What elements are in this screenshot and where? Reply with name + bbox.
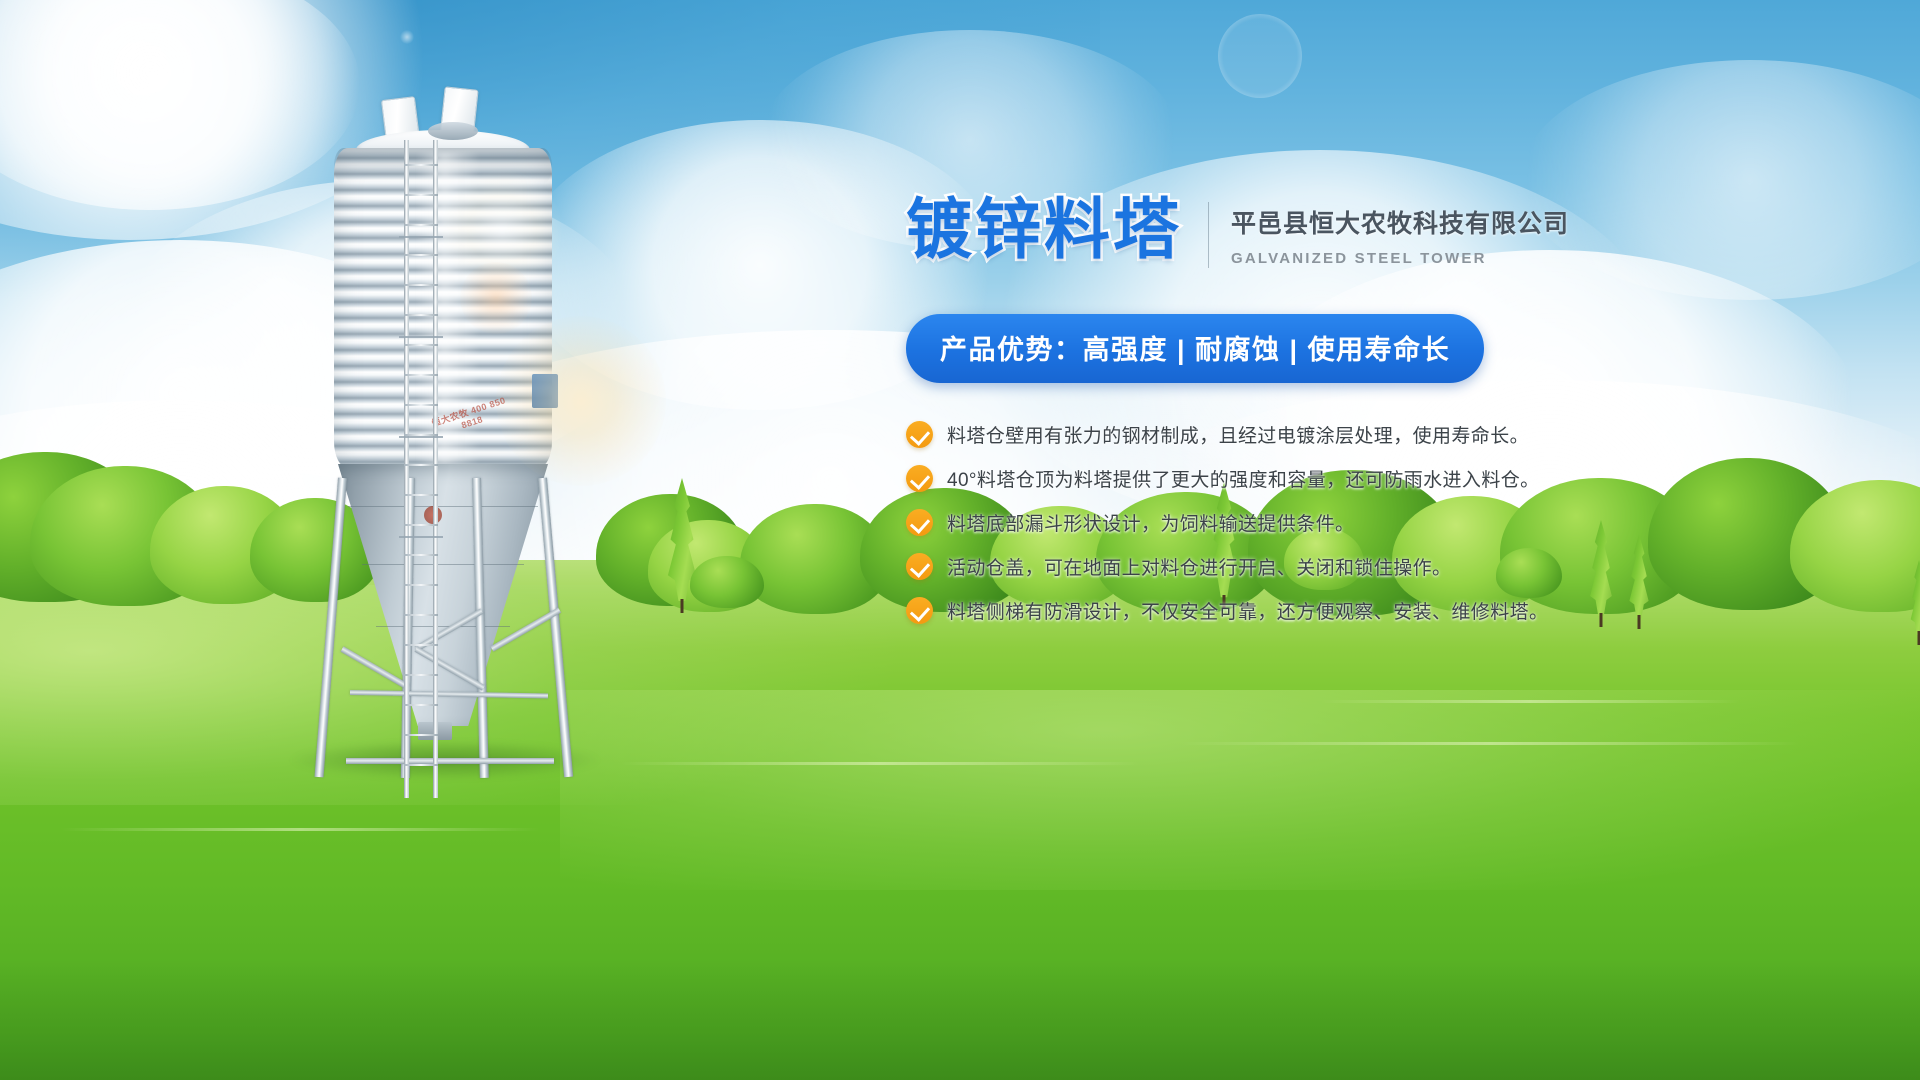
feature-text: 料塔底部漏斗形状设计，为饲料输送提供条件。 bbox=[947, 509, 1354, 536]
ladder-rung bbox=[404, 524, 438, 526]
sun-flare bbox=[460, 262, 532, 334]
list-item: 料塔侧梯有防滑设计，不仅安全可靠，还方便观察、安装、维修料塔。 bbox=[906, 597, 1546, 624]
banner-header-row: 镀锌料塔 平邑县恒大农牧科技有限公司 GALVANIZED STEEL TOWE… bbox=[906, 196, 1546, 268]
galvanized-silo-image: 恒大农牧 400 850 8818 bbox=[296, 86, 596, 766]
ladder-rung bbox=[404, 674, 438, 676]
feature-text: 40°料塔仓顶为料塔提供了更大的强度和容量，还可防雨水进入料仓。 bbox=[947, 465, 1540, 492]
company-name-english: GALVANIZED STEEL TOWER bbox=[1231, 250, 1569, 267]
list-item: 料塔底部漏斗形状设计，为饲料输送提供条件。 bbox=[906, 509, 1546, 536]
ladder-rung bbox=[404, 404, 438, 406]
ladder-rung bbox=[404, 224, 438, 226]
hero-banner-scene: 恒大农牧 400 850 8818 bbox=[0, 0, 1920, 1080]
conifer-tree bbox=[1906, 560, 1920, 638]
ladder-cage-hoop bbox=[399, 436, 443, 438]
check-circle-icon bbox=[906, 421, 933, 448]
silo-base-beam bbox=[346, 758, 554, 764]
silo-hopper-cone bbox=[338, 464, 548, 726]
ladder-rung bbox=[404, 284, 438, 286]
ladder-cage-hoop bbox=[399, 336, 443, 338]
ladder-rung bbox=[404, 164, 438, 166]
cone-seam bbox=[348, 506, 538, 507]
ladder-cage-hoop bbox=[399, 536, 443, 538]
banner-text-panel: 镀锌料塔 平邑县恒大农牧科技有限公司 GALVANIZED STEEL TOWE… bbox=[906, 196, 1546, 641]
ladder-rung bbox=[404, 704, 438, 706]
silo-side-ladder bbox=[404, 140, 438, 798]
advantage-pill: 产品优势：高强度 | 耐腐蚀 | 使用寿命长 bbox=[906, 314, 1484, 383]
cone-seam bbox=[376, 626, 510, 627]
list-item: 40°料塔仓顶为料塔提供了更大的强度和容量，还可防雨水进入料仓。 bbox=[906, 465, 1546, 492]
ladder-rung bbox=[404, 644, 438, 646]
conifer-tree bbox=[1624, 534, 1654, 622]
check-circle-icon bbox=[906, 553, 933, 580]
ladder-rung bbox=[404, 584, 438, 586]
silo-leg bbox=[314, 478, 347, 778]
ladder-cage-hoop bbox=[399, 236, 443, 238]
conifer-tree bbox=[1584, 520, 1618, 620]
company-name: 平邑县恒大农牧科技有限公司 bbox=[1231, 204, 1569, 240]
page-title: 镀锌料塔 bbox=[906, 196, 1182, 262]
ladder-rung bbox=[404, 554, 438, 556]
check-circle-icon bbox=[906, 597, 933, 624]
ladder-rung bbox=[404, 734, 438, 736]
silo-lid-hatch bbox=[428, 122, 478, 140]
sun-flare bbox=[496, 316, 666, 486]
list-item: 活动仓盖，可在地面上对料仓进行开启、关闭和锁住操作。 bbox=[906, 553, 1546, 580]
ladder-rung bbox=[404, 374, 438, 376]
check-circle-icon bbox=[906, 465, 933, 492]
check-circle-icon bbox=[906, 509, 933, 536]
feature-text: 活动仓盖，可在地面上对料仓进行开启、关闭和锁住操作。 bbox=[947, 553, 1451, 580]
feature-text: 料塔侧梯有防滑设计，不仅安全可靠，还方便观察、安装、维修料塔。 bbox=[947, 597, 1548, 624]
shrub bbox=[690, 556, 764, 608]
company-block: 平邑县恒大农牧科技有限公司 GALVANIZED STEEL TOWER bbox=[1231, 196, 1569, 267]
ladder-rung bbox=[404, 194, 438, 196]
ladder-rung bbox=[404, 314, 438, 316]
silo-leg bbox=[538, 478, 573, 778]
feature-text: 料塔仓壁用有张力的钢材制成，且经过电镀涂层处理，使用寿命长。 bbox=[947, 421, 1529, 448]
list-item: 料塔仓壁用有张力的钢材制成，且经过电镀涂层处理，使用寿命长。 bbox=[906, 421, 1546, 448]
feature-list: 料塔仓壁用有张力的钢材制成，且经过电镀涂层处理，使用寿命长。 40°料塔仓顶为料… bbox=[906, 421, 1546, 624]
ladder-rung bbox=[404, 764, 438, 766]
title-divider bbox=[1208, 202, 1209, 268]
ladder-rail bbox=[433, 140, 438, 798]
ladder-rung bbox=[404, 494, 438, 496]
ladder-rail bbox=[404, 140, 409, 798]
ladder-rung bbox=[404, 344, 438, 346]
ladder-rung bbox=[404, 464, 438, 466]
cone-seam bbox=[362, 564, 524, 565]
ladder-rung bbox=[404, 254, 438, 256]
ladder-rung bbox=[404, 614, 438, 616]
